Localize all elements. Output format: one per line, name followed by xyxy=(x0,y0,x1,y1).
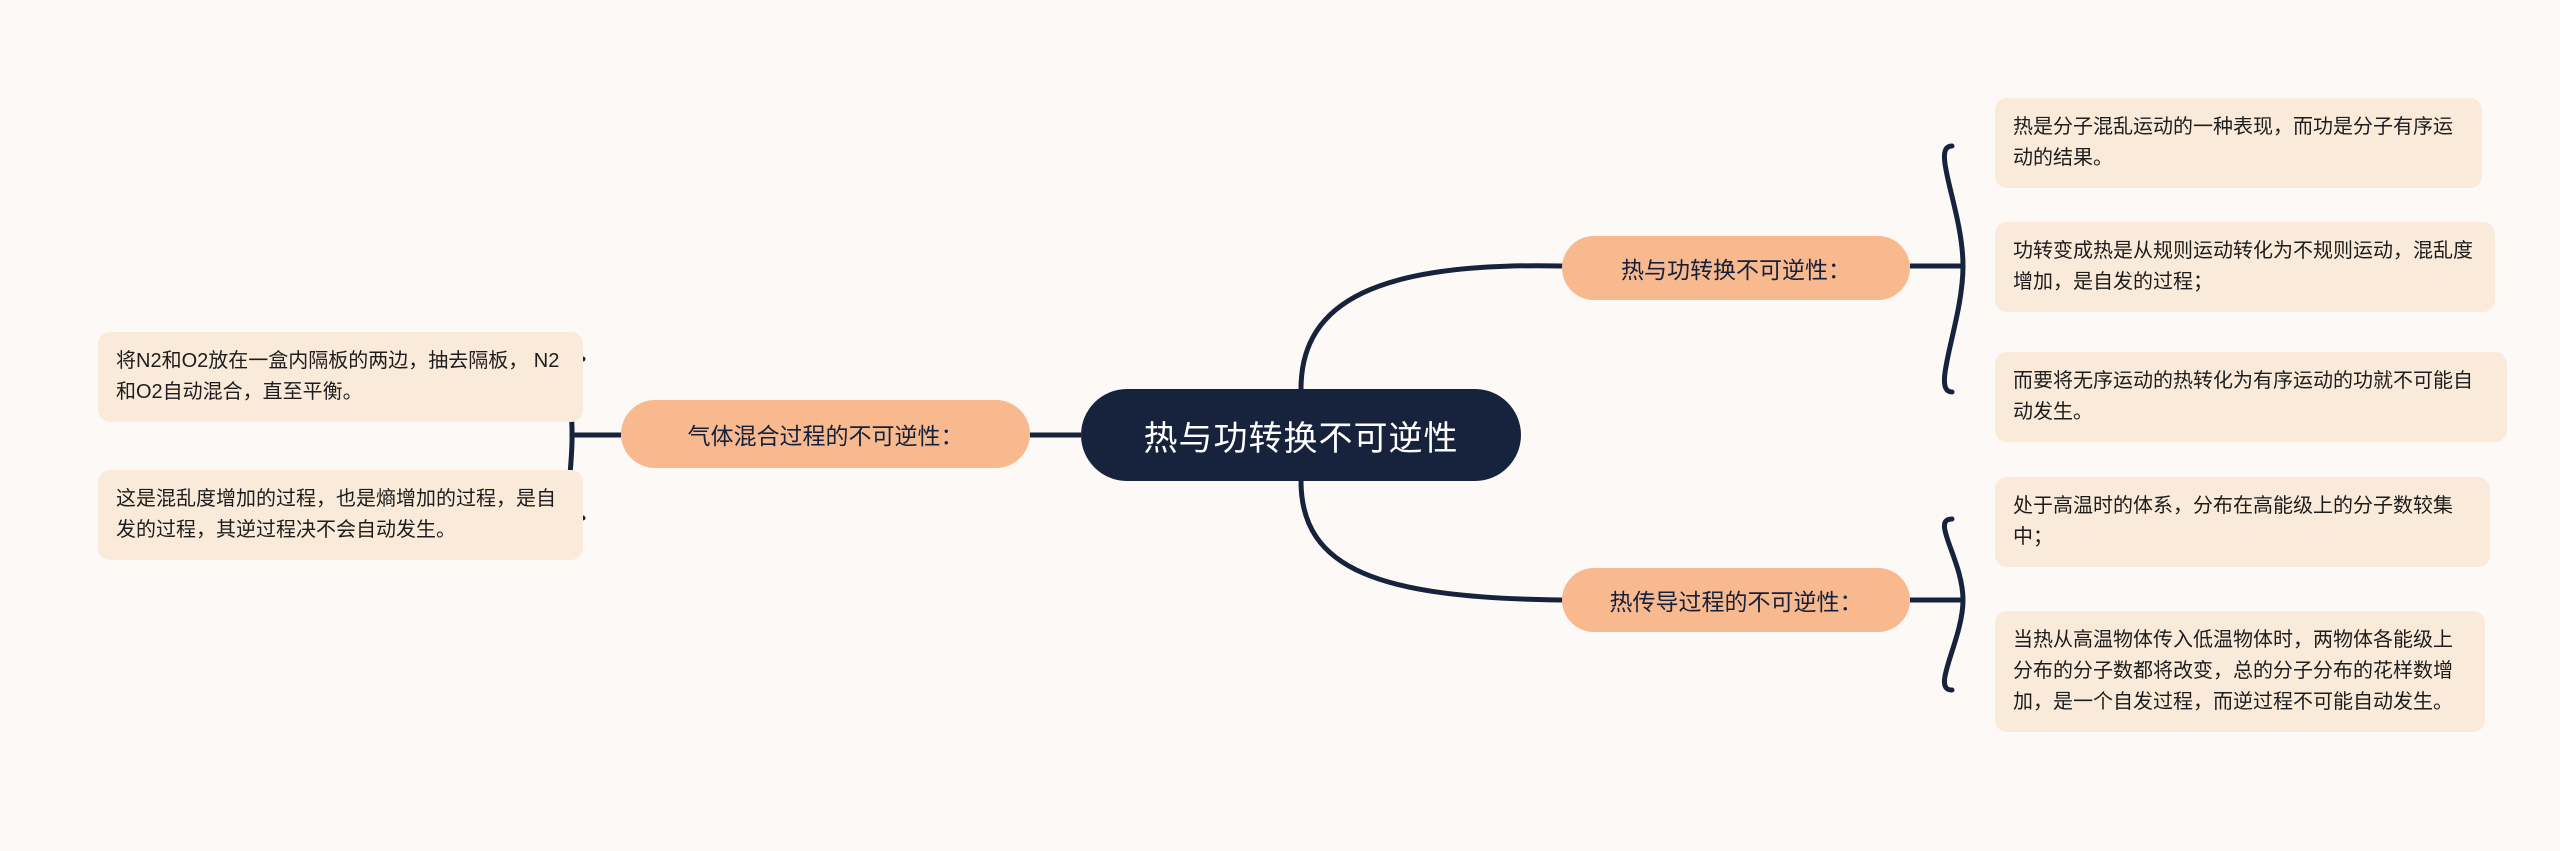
leaf-item[interactable]: 当热从高温物体传入低温物体时，两物体各能级上分布的分子数都将改变，总的分子分布的… xyxy=(1995,611,2485,732)
branch-node-gas-mixing[interactable]: 气体混合过程的不可逆性： xyxy=(621,400,1030,468)
mindmap-canvas: 热与功转换不可逆性 气体混合过程的不可逆性： 将N2和O2放在一盒内隔板的两边，… xyxy=(0,0,2560,851)
leaf-item[interactable]: 这是混乱度增加的过程，也是熵增加的过程，是自发的过程，其逆过程决不会自动发生。 xyxy=(98,470,583,560)
leaf-item[interactable]: 功转变成热是从规则运动转化为不规则运动，混乱度增加，是自发的过程； xyxy=(1995,222,2495,312)
branch-node-heat-conduction[interactable]: 热传导过程的不可逆性： xyxy=(1562,568,1910,632)
bracket-right-conduction xyxy=(1944,519,1963,690)
link-root-to-branch-heat-work xyxy=(1301,266,1562,389)
link-root-to-branch-conduction xyxy=(1301,481,1562,600)
bracket-right-heat-work xyxy=(1944,146,1963,392)
root-node[interactable]: 热与功转换不可逆性 xyxy=(1081,389,1521,481)
branch-node-heat-work[interactable]: 热与功转换不可逆性： xyxy=(1562,236,1910,300)
leaf-item[interactable]: 热是分子混乱运动的一种表现，而功是分子有序运动的结果。 xyxy=(1995,98,2482,188)
leaf-item[interactable]: 将N2和O2放在一盒内隔板的两边，抽去隔板， N2和O2自动混合，直至平衡。 xyxy=(98,332,583,422)
leaf-item[interactable]: 处于高温时的体系，分布在高能级上的分子数较集中； xyxy=(1995,477,2490,567)
leaf-item[interactable]: 而要将无序运动的热转化为有序运动的功就不可能自动发生。 xyxy=(1995,352,2507,442)
